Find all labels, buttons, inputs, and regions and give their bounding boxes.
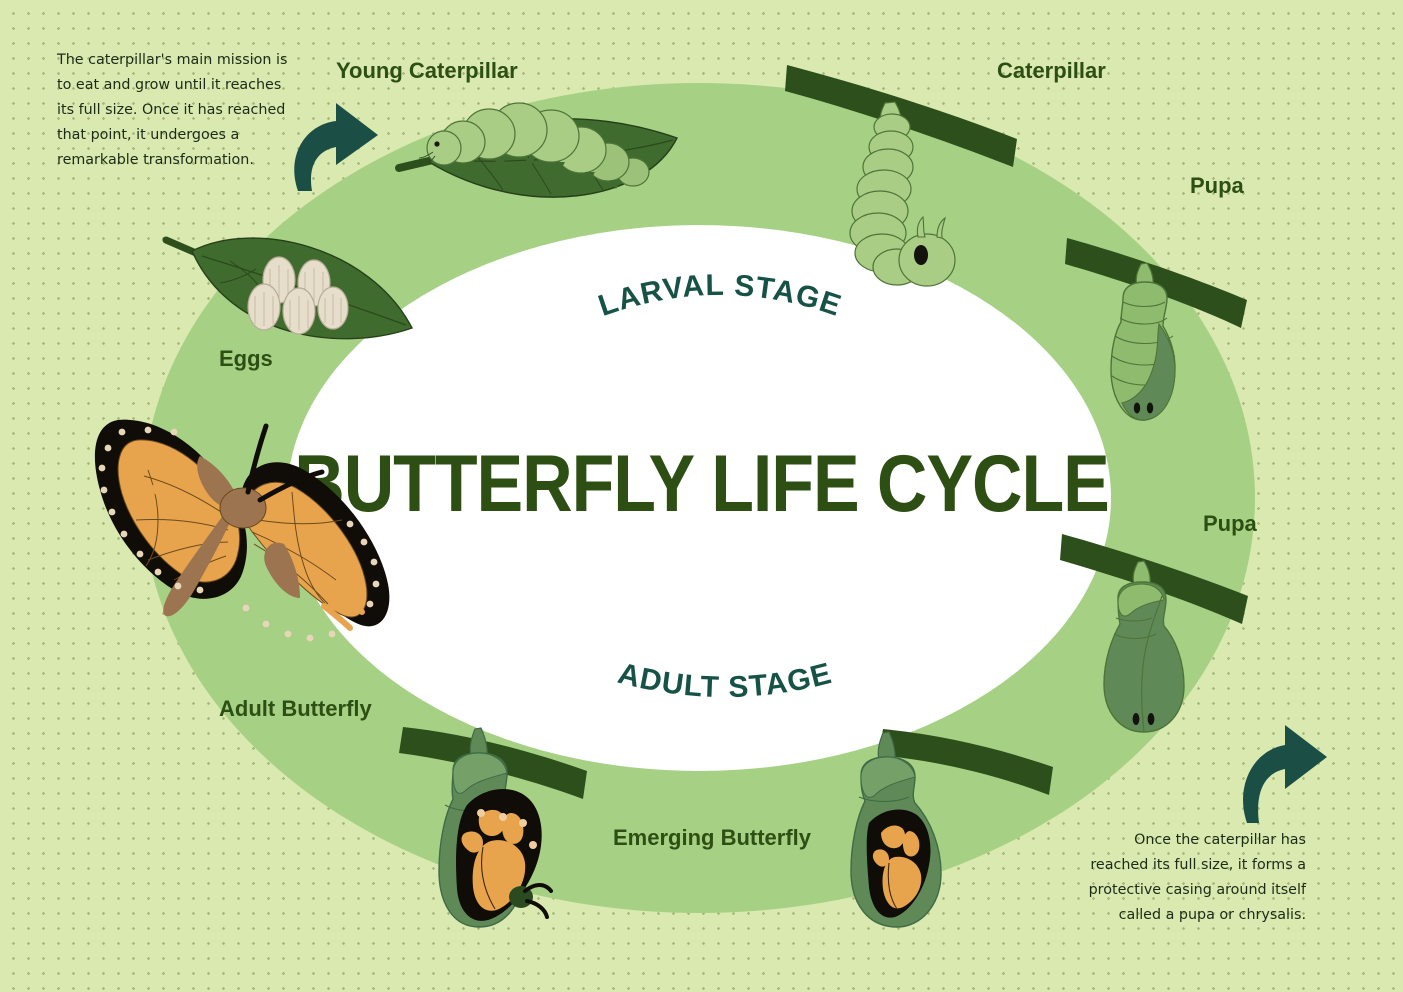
adult-butterfly-illustration xyxy=(88,408,393,683)
caption-left-line: its full size. Once it has reached xyxy=(57,98,292,123)
young-caterpillar-illustration xyxy=(395,90,695,220)
caption-right-line: reached its full size, it forms a xyxy=(1078,853,1306,878)
butterfly-antenna xyxy=(527,901,547,917)
caption-right-line: Once the caterpillar has xyxy=(1078,828,1306,853)
leaf-stem xyxy=(399,160,433,168)
caption-left-line: The caterpillar's main mission is xyxy=(57,48,292,73)
label-caterpillar: Caterpillar xyxy=(997,58,1106,84)
caption-right-line: called a pupa or chrysalis. xyxy=(1078,903,1306,928)
transition-arrow-up-left xyxy=(278,95,398,205)
caption-right-line: protective casing around itself xyxy=(1078,878,1306,903)
monarch-butterfly xyxy=(95,420,389,642)
label-emerging-butterfly: Emerging Butterfly xyxy=(613,825,811,851)
caption-left-line: that point, it undergoes a xyxy=(57,123,292,148)
label-young-caterpillar: Young Caterpillar xyxy=(336,58,518,84)
chrysalis-with-wings-illustration xyxy=(825,705,1055,945)
caterpillar-antenna-right xyxy=(937,218,945,238)
eggs-illustration xyxy=(160,225,425,360)
transition-arrow-up-left-2 xyxy=(1228,715,1343,830)
butterfly-antenna xyxy=(525,885,551,891)
label-pupa-2: Pupa xyxy=(1203,511,1257,537)
label-eggs: Eggs xyxy=(219,346,273,372)
caption-larval: The caterpillar's main mission is to eat… xyxy=(57,48,292,173)
butterfly-thorax xyxy=(220,488,266,528)
emerging-butterfly-illustration xyxy=(395,705,625,950)
label-adult-butterfly: Adult Butterfly xyxy=(219,696,372,722)
label-pupa-1: Pupa xyxy=(1190,173,1244,199)
caption-left-line: to eat and grow until it reaches xyxy=(57,73,292,98)
caterpillar-antenna-left xyxy=(917,217,925,237)
pupa-forming-illustration xyxy=(1065,228,1280,458)
caterpillar-eye xyxy=(914,245,928,265)
caption-pupa: Once the caterpillar has reached its ful… xyxy=(1078,828,1306,928)
butterfly-emerging-from-chrysalis xyxy=(456,789,551,921)
caterpillar-eye xyxy=(434,141,439,146)
caption-left-line: remarkable transformation. xyxy=(57,148,292,173)
adult-stage-arc: ADULT STAGE xyxy=(595,668,855,748)
caterpillar-illustration xyxy=(785,55,1035,285)
